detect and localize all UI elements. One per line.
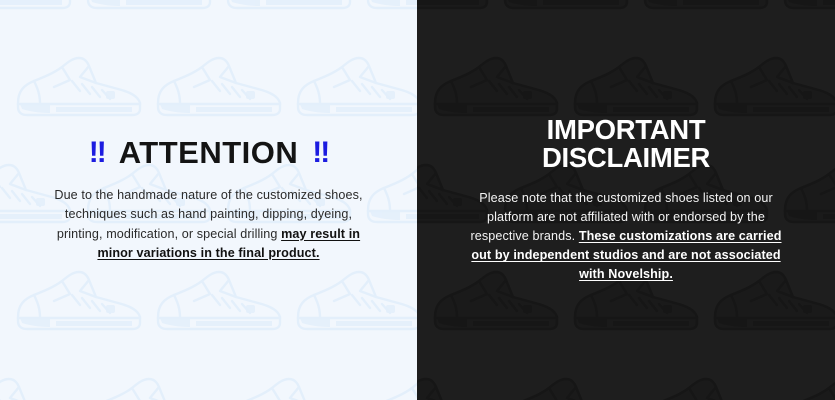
- disclaimer-heading: IMPORTANT DISCLAIMER: [417, 116, 835, 173]
- disclaimer-content: IMPORTANT DISCLAIMER Please note that th…: [417, 0, 835, 400]
- attention-panel: !! ATTENTION !! Due to the handmade natu…: [0, 0, 417, 400]
- exclamation-right-icon: !!: [312, 138, 328, 168]
- attention-heading: ATTENTION: [119, 137, 299, 168]
- disclaimer-body: Please note that the customized shoes li…: [417, 189, 835, 285]
- exclamation-left-icon: !!: [89, 138, 105, 168]
- disclaimer-heading-line1: IMPORTANT: [417, 116, 835, 145]
- disclaimer-heading-line2: DISCLAIMER: [417, 144, 835, 173]
- attention-body: Due to the handmade nature of the custom…: [0, 186, 417, 263]
- disclaimer-banner: !! ATTENTION !! Due to the handmade natu…: [0, 0, 835, 400]
- attention-heading-row: !! ATTENTION !!: [0, 137, 417, 168]
- disclaimer-panel: IMPORTANT DISCLAIMER Please note that th…: [417, 0, 835, 400]
- attention-content: !! ATTENTION !! Due to the handmade natu…: [0, 0, 417, 400]
